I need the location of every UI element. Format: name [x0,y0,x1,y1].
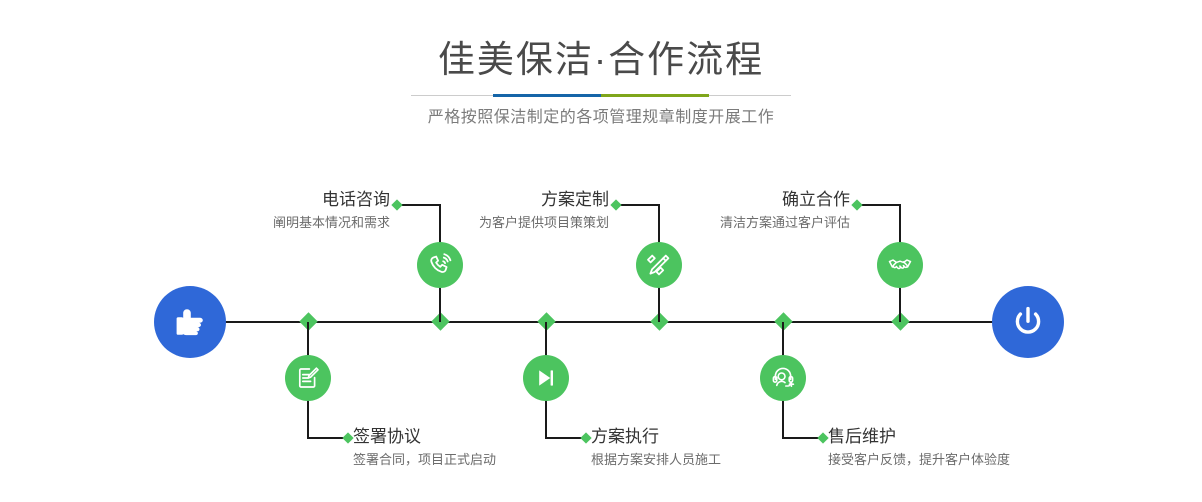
step-title: 签署协议 [353,426,496,448]
step-icon-execute[interactable] [523,355,569,401]
step-title: 方案执行 [591,426,721,448]
step-title: 售后维护 [828,426,1010,448]
divider-rule-right [709,95,791,96]
step-label-plan-execution: 方案执行 根据方案安排人员施工 [591,426,721,470]
label-node-marker [580,432,591,443]
pencil-edit-icon [646,252,672,278]
step-icon-phone-call[interactable] [417,242,463,288]
connector-horizontal [545,437,585,439]
connector-horizontal [782,437,822,439]
step-icon-establish-cooperation[interactable] [877,242,923,288]
phone-call-icon [427,252,453,278]
page-title: 佳美保洁·合作流程 [0,38,1202,82]
step-desc: 签署合同，项目正式启动 [353,450,496,470]
sign-document-icon [295,365,321,391]
step-desc: 清洁方案通过客户评估 [520,213,850,233]
handshake-icon [887,252,913,278]
step-label-sign-agreement: 签署协议 签署合同，项目正式启动 [353,426,496,470]
timeline-start-node[interactable] [154,286,226,358]
power-icon [1008,302,1048,342]
divider-segment-blue [493,94,601,97]
step-title: 确立合作 [520,189,850,211]
step-desc: 根据方案安排人员施工 [591,450,721,470]
label-node-marker [817,432,828,443]
divider-segment-green [601,94,709,97]
timeline-end-node[interactable] [992,286,1064,358]
title-divider [411,94,791,97]
page-subtitle: 严格按照保洁制定的各项管理规章制度开展工作 [0,106,1202,130]
connector-horizontal [307,437,347,439]
step-label-establish-cooperation: 确立合作 清洁方案通过客户评估 [520,189,850,233]
label-node-marker [342,432,353,443]
process-flow-infographic: 佳美保洁·合作流程 严格按照保洁制定的各项管理规章制度开展工作 [0,0,1202,502]
step-desc: 接受客户反馈，提升客户体验度 [828,450,1010,470]
customer-support-icon [770,365,796,391]
pointing-hand-icon [170,302,210,342]
step-icon-after-sales[interactable] [760,355,806,401]
step-icon-plan-customize[interactable] [636,242,682,288]
divider-rule-left [411,95,493,96]
step-label-after-sales: 售后维护 接受客户反馈，提升客户体验度 [828,426,1010,470]
connector-horizontal [859,204,901,206]
step-icon-sign-document[interactable] [285,355,331,401]
play-execute-icon [533,365,559,391]
label-node-marker [851,199,862,210]
